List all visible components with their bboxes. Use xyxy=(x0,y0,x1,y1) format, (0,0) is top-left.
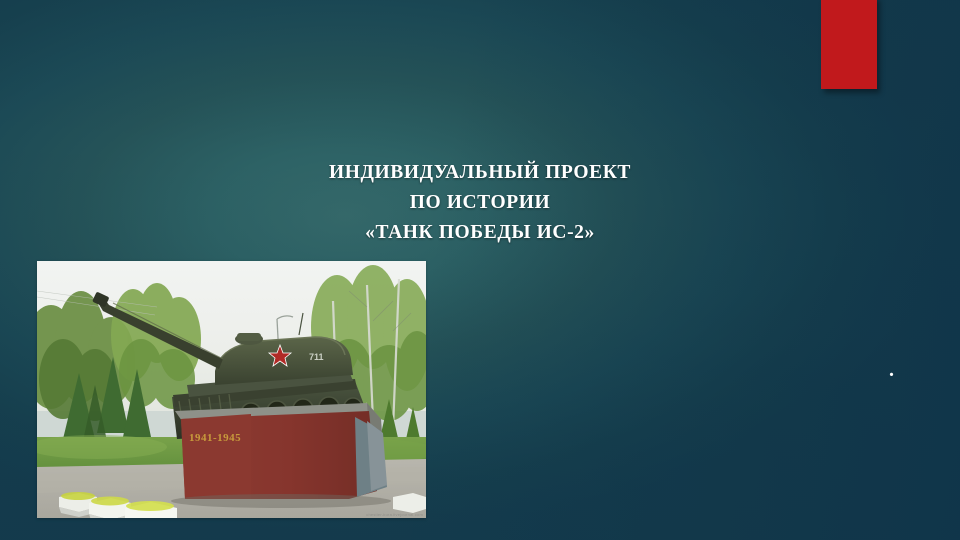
bullet-dot-text: . xyxy=(889,360,905,380)
svg-text:1941-1945: 1941-1945 xyxy=(189,432,241,444)
svg-text:711: 711 xyxy=(309,352,324,362)
photo-credit: chestier-kura.livejournal.com xyxy=(366,512,423,517)
presentation-slide: ИНДИВИДУАЛЬНЫЙ ПРОЕКТ ПО ИСТОРИИ «ТАНК П… xyxy=(0,0,960,540)
slide-title: ИНДИВИДУАЛЬНЫЙ ПРОЕКТ ПО ИСТОРИИ «ТАНК П… xyxy=(140,158,820,248)
title-line-2: ПО ИСТОРИИ xyxy=(140,188,820,218)
tank-monument-photo: 711 xyxy=(37,261,426,518)
tank-monument-illustration: 711 xyxy=(37,261,426,518)
title-line-1: ИНДИВИДУАЛЬНЫЙ ПРОЕКТ xyxy=(140,158,820,188)
title-line-3: «ТАНК ПОБЕДЫ ИС-2» xyxy=(140,218,820,248)
red-accent-rectangle xyxy=(821,0,877,89)
